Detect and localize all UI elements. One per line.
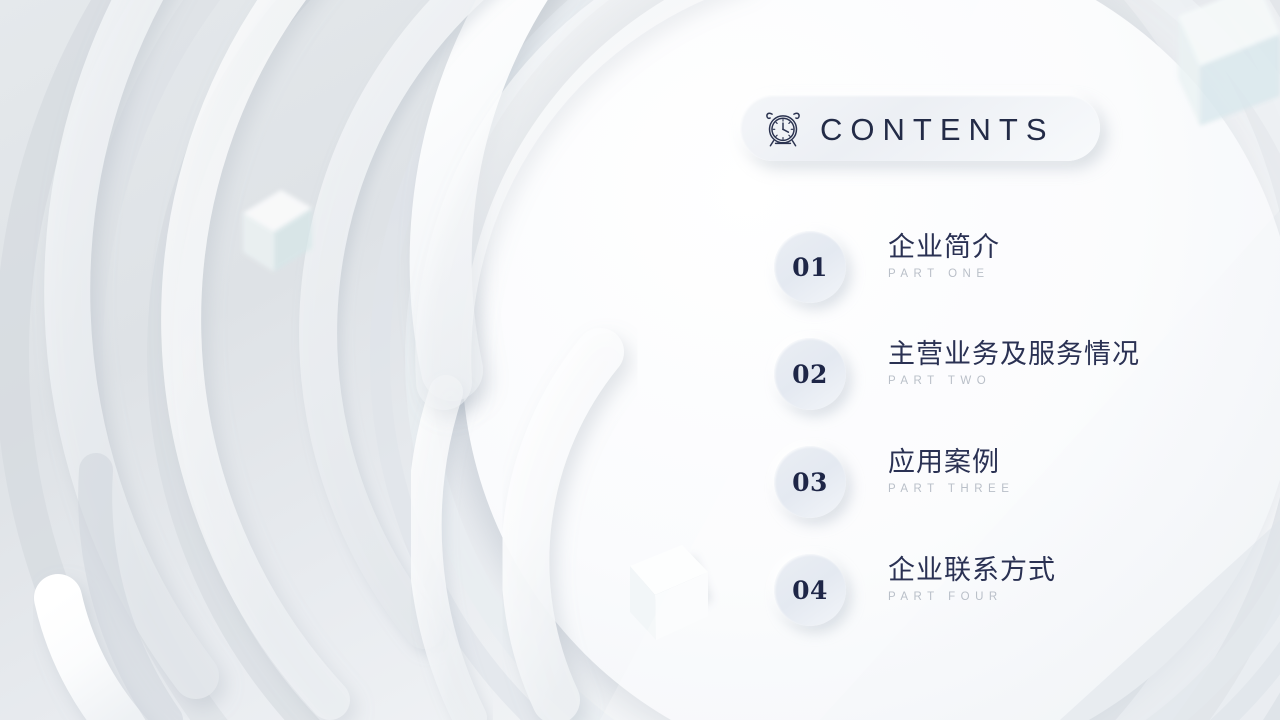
- toc-number: 01: [792, 253, 828, 282]
- toc-number-badge: 01: [774, 231, 846, 303]
- toc-item-03[interactable]: 03 应用案例 PART THREE: [774, 439, 1274, 525]
- slide-canvas: CONTENTS 01 企业简介 PART ONE 02 主营业务及服务情况: [0, 0, 1280, 720]
- toc-title: 企业联系方式: [888, 553, 1056, 588]
- toc-number-badge: 02: [774, 338, 846, 410]
- toc-text-block: 主营业务及服务情况 PART TWO: [888, 337, 1140, 387]
- content-column: CONTENTS 01 企业简介 PART ONE 02 主营业务及服务情况: [700, 0, 1280, 720]
- toc-text-block: 企业联系方式 PART FOUR: [888, 553, 1056, 603]
- toc-item-04[interactable]: 04 企业联系方式 PART FOUR: [774, 547, 1274, 633]
- toc-number: 04: [792, 576, 828, 605]
- toc-number: 02: [792, 360, 828, 389]
- toc-text-block: 应用案例 PART THREE: [888, 445, 1014, 495]
- toc-item-02[interactable]: 02 主营业务及服务情况 PART TWO: [774, 331, 1274, 417]
- toc-item-01[interactable]: 01 企业简介 PART ONE: [774, 224, 1274, 310]
- toc-title: 应用案例: [888, 445, 1014, 480]
- toc-number-badge: 03: [774, 446, 846, 518]
- toc-number-badge: 04: [774, 554, 846, 626]
- toc-subtitle: PART ONE: [888, 268, 1000, 280]
- toc-title: 企业简介: [888, 230, 1000, 265]
- toc-number: 03: [792, 468, 828, 497]
- toc-subtitle: PART THREE: [888, 483, 1014, 495]
- toc-text-block: 企业简介 PART ONE: [888, 230, 1000, 280]
- toc-list: 01 企业简介 PART ONE 02 主营业务及服务情况 PART TWO: [700, 0, 1280, 720]
- toc-title: 主营业务及服务情况: [888, 337, 1140, 372]
- toc-subtitle: PART FOUR: [888, 591, 1056, 603]
- toc-subtitle: PART TWO: [888, 375, 1140, 387]
